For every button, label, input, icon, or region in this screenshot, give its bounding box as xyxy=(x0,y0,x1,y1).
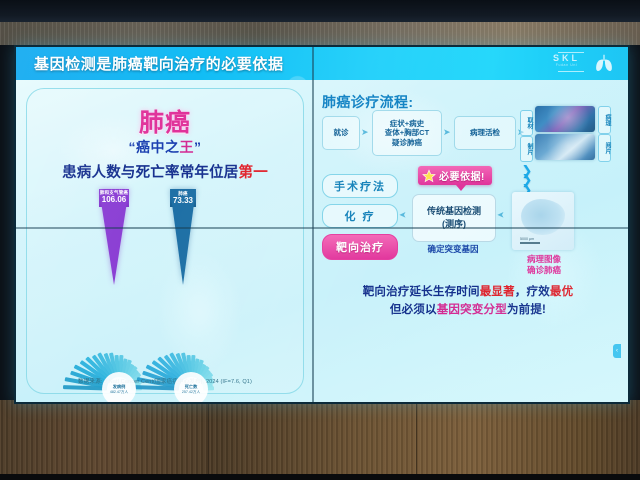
star-icon xyxy=(422,169,436,183)
subtitle-post: ” xyxy=(194,139,202,155)
page-title: 基因检测是肺癌靶向治疗的必要依据 xyxy=(34,53,284,74)
incidence-mortality-line: 患病人数与死亡率常年位居第一 xyxy=(27,161,303,182)
flow-step-symptoms: 症状+病史 查体+胸部CT 疑诊肺癌 xyxy=(372,110,442,156)
side-tab-button[interactable]: ‹ xyxy=(613,344,621,358)
concl-2a: 但必须以 xyxy=(390,304,437,316)
ceiling xyxy=(0,0,640,22)
skl-logo: SKL Fudan Uni xyxy=(553,53,580,67)
flow-arrow-2: ➤ xyxy=(443,128,451,137)
lower-wall-wood xyxy=(0,400,640,480)
funnel-value-purple: 106.06 xyxy=(99,196,129,204)
screen-seam-vertical xyxy=(312,47,314,402)
treatment-surgery: 手术疗法 xyxy=(322,174,398,198)
wall-seam xyxy=(208,400,209,480)
funnel-chart-area: 肺和支气管癌 106.06 肺癌 73.33 发病例 482.47万人 xyxy=(27,189,303,349)
flow-step-biopsy: 病理活检 xyxy=(454,116,516,150)
king-of-cancer-subtitle: “癌中之王” xyxy=(27,137,303,157)
pathology-slide-image: 5000 μm xyxy=(512,192,574,250)
concl-em1: 最显著 xyxy=(480,286,515,298)
room-scene: 基因检测是肺癌靶向治疗的必要依据 SKL Fudan Uni 肺癌 “癌中之王” xyxy=(0,0,640,480)
arrow-to-chemo: ➤ xyxy=(399,210,407,219)
chevron-down-icon: ❯❯❯ xyxy=(512,166,542,194)
rose-hub-value-incidence: 482.47万人 xyxy=(110,390,128,395)
flow-arrow-1: ➤ xyxy=(361,128,369,137)
funnel-label-blue: 肺癌 73.33 xyxy=(170,192,196,205)
skl-logo-text: SKL xyxy=(553,53,580,63)
operating-room-photo xyxy=(535,106,595,132)
line3-emphasis: 第一 xyxy=(239,165,268,181)
vtag-slide-prep: 制片 xyxy=(520,136,533,162)
slide-header: 基因检测是肺癌靶向治疗的必要依据 SKL Fudan Uni xyxy=(16,47,628,80)
vtag-pathology: 病理 xyxy=(598,106,611,134)
pathology-caption-l1: 病理图像 xyxy=(492,254,596,265)
gene-caption: 确定突变基因 xyxy=(412,244,494,255)
concl-em2: 最优 xyxy=(550,286,573,298)
arrow-to-gene-test: ➤ xyxy=(497,210,505,219)
gene-test-line1: 传统基因检测 xyxy=(427,205,481,218)
pathology-caption: 病理图像 确诊肺癌 xyxy=(492,254,596,276)
funnel-value-blue: 73.33 xyxy=(170,197,196,205)
pathology-caption-l2: 确诊肺癌 xyxy=(492,265,596,276)
upper-wall xyxy=(0,22,640,45)
scale-bar-label: 5000 μm xyxy=(520,237,534,241)
lung-cancer-title: 肺癌 xyxy=(27,103,303,139)
tissue-region xyxy=(521,199,565,235)
screen-seam-horizontal xyxy=(16,227,628,229)
vtag-reading: 阅片 xyxy=(598,134,611,162)
funnel-label-purple: 肺和支气管癌 106.06 xyxy=(99,191,129,204)
line3-pre: 患病人数与死亡率常年位居 xyxy=(62,165,238,181)
lab-equipment-photo xyxy=(535,134,595,160)
conclusion-line-1: 靶向治疗延长生存时间最显著，疗效最优 xyxy=(316,284,620,302)
rose-hub-mortality: 死亡数 257.42万人 xyxy=(174,372,208,404)
video-wall-screen: 基因检测是肺癌靶向治疗的必要依据 SKL Fudan Uni 肺癌 “癌中之王” xyxy=(14,45,630,404)
treatment-chemo: 化 疗 xyxy=(322,204,398,228)
concl-1b: ，疗效 xyxy=(515,286,550,298)
right-flow-panel: 肺癌诊疗流程: 就诊 ➤ 症状+病史 查体+胸部CT 疑诊肺癌 ➤ 病理活检 ➤… xyxy=(316,88,620,392)
rose-chart-mortality: 死亡数 257.42万人 xyxy=(143,341,239,404)
concl-2b: 为前提! xyxy=(507,304,546,316)
gene-test-box: 传统基因检测 (测序) xyxy=(412,194,496,242)
flow-title: 肺癌诊疗流程: xyxy=(322,92,413,112)
gene-test-line2: (测序) xyxy=(442,218,466,231)
rose-hub-incidence: 发病例 482.47万人 xyxy=(102,372,136,404)
subtitle-pre: “癌中之 xyxy=(129,139,180,155)
conclusion-line-2: 但必须以基因突变分型为前提! xyxy=(316,302,620,320)
skl-logo-subtext: Fudan Uni xyxy=(553,63,580,67)
floor-shadow xyxy=(0,474,640,480)
necessary-basis-banner: 必要依据! xyxy=(418,166,492,185)
treatment-targeted: 靶向治疗 xyxy=(322,234,398,260)
vtag-sampling: 取材 xyxy=(520,110,533,136)
subtitle-king: 王 xyxy=(180,139,195,155)
slide-body: 肺癌 “癌中之王” 患病人数与死亡率常年位居第一 肺和支气管癌 106.06 xyxy=(16,80,628,402)
data-source-note: 数据来源: J Natl Cancer Cent(国家癌症中心发布), 2024… xyxy=(27,377,303,385)
left-stats-card: 肺癌 “癌中之王” 患病人数与死亡率常年位居第一 肺和支气管癌 106.06 xyxy=(26,88,304,394)
lungs-icon xyxy=(592,53,616,74)
concl-em3: 基因突变分型 xyxy=(437,304,507,316)
flow-step-visit: 就诊 xyxy=(322,116,360,150)
concl-1a: 靶向治疗延长生存时间 xyxy=(363,286,480,298)
rose-hub-value-mortality: 257.42万人 xyxy=(182,390,200,395)
wall-seam xyxy=(416,400,417,480)
scale-bar xyxy=(520,242,540,244)
banner-text: 必要依据! xyxy=(439,168,485,183)
